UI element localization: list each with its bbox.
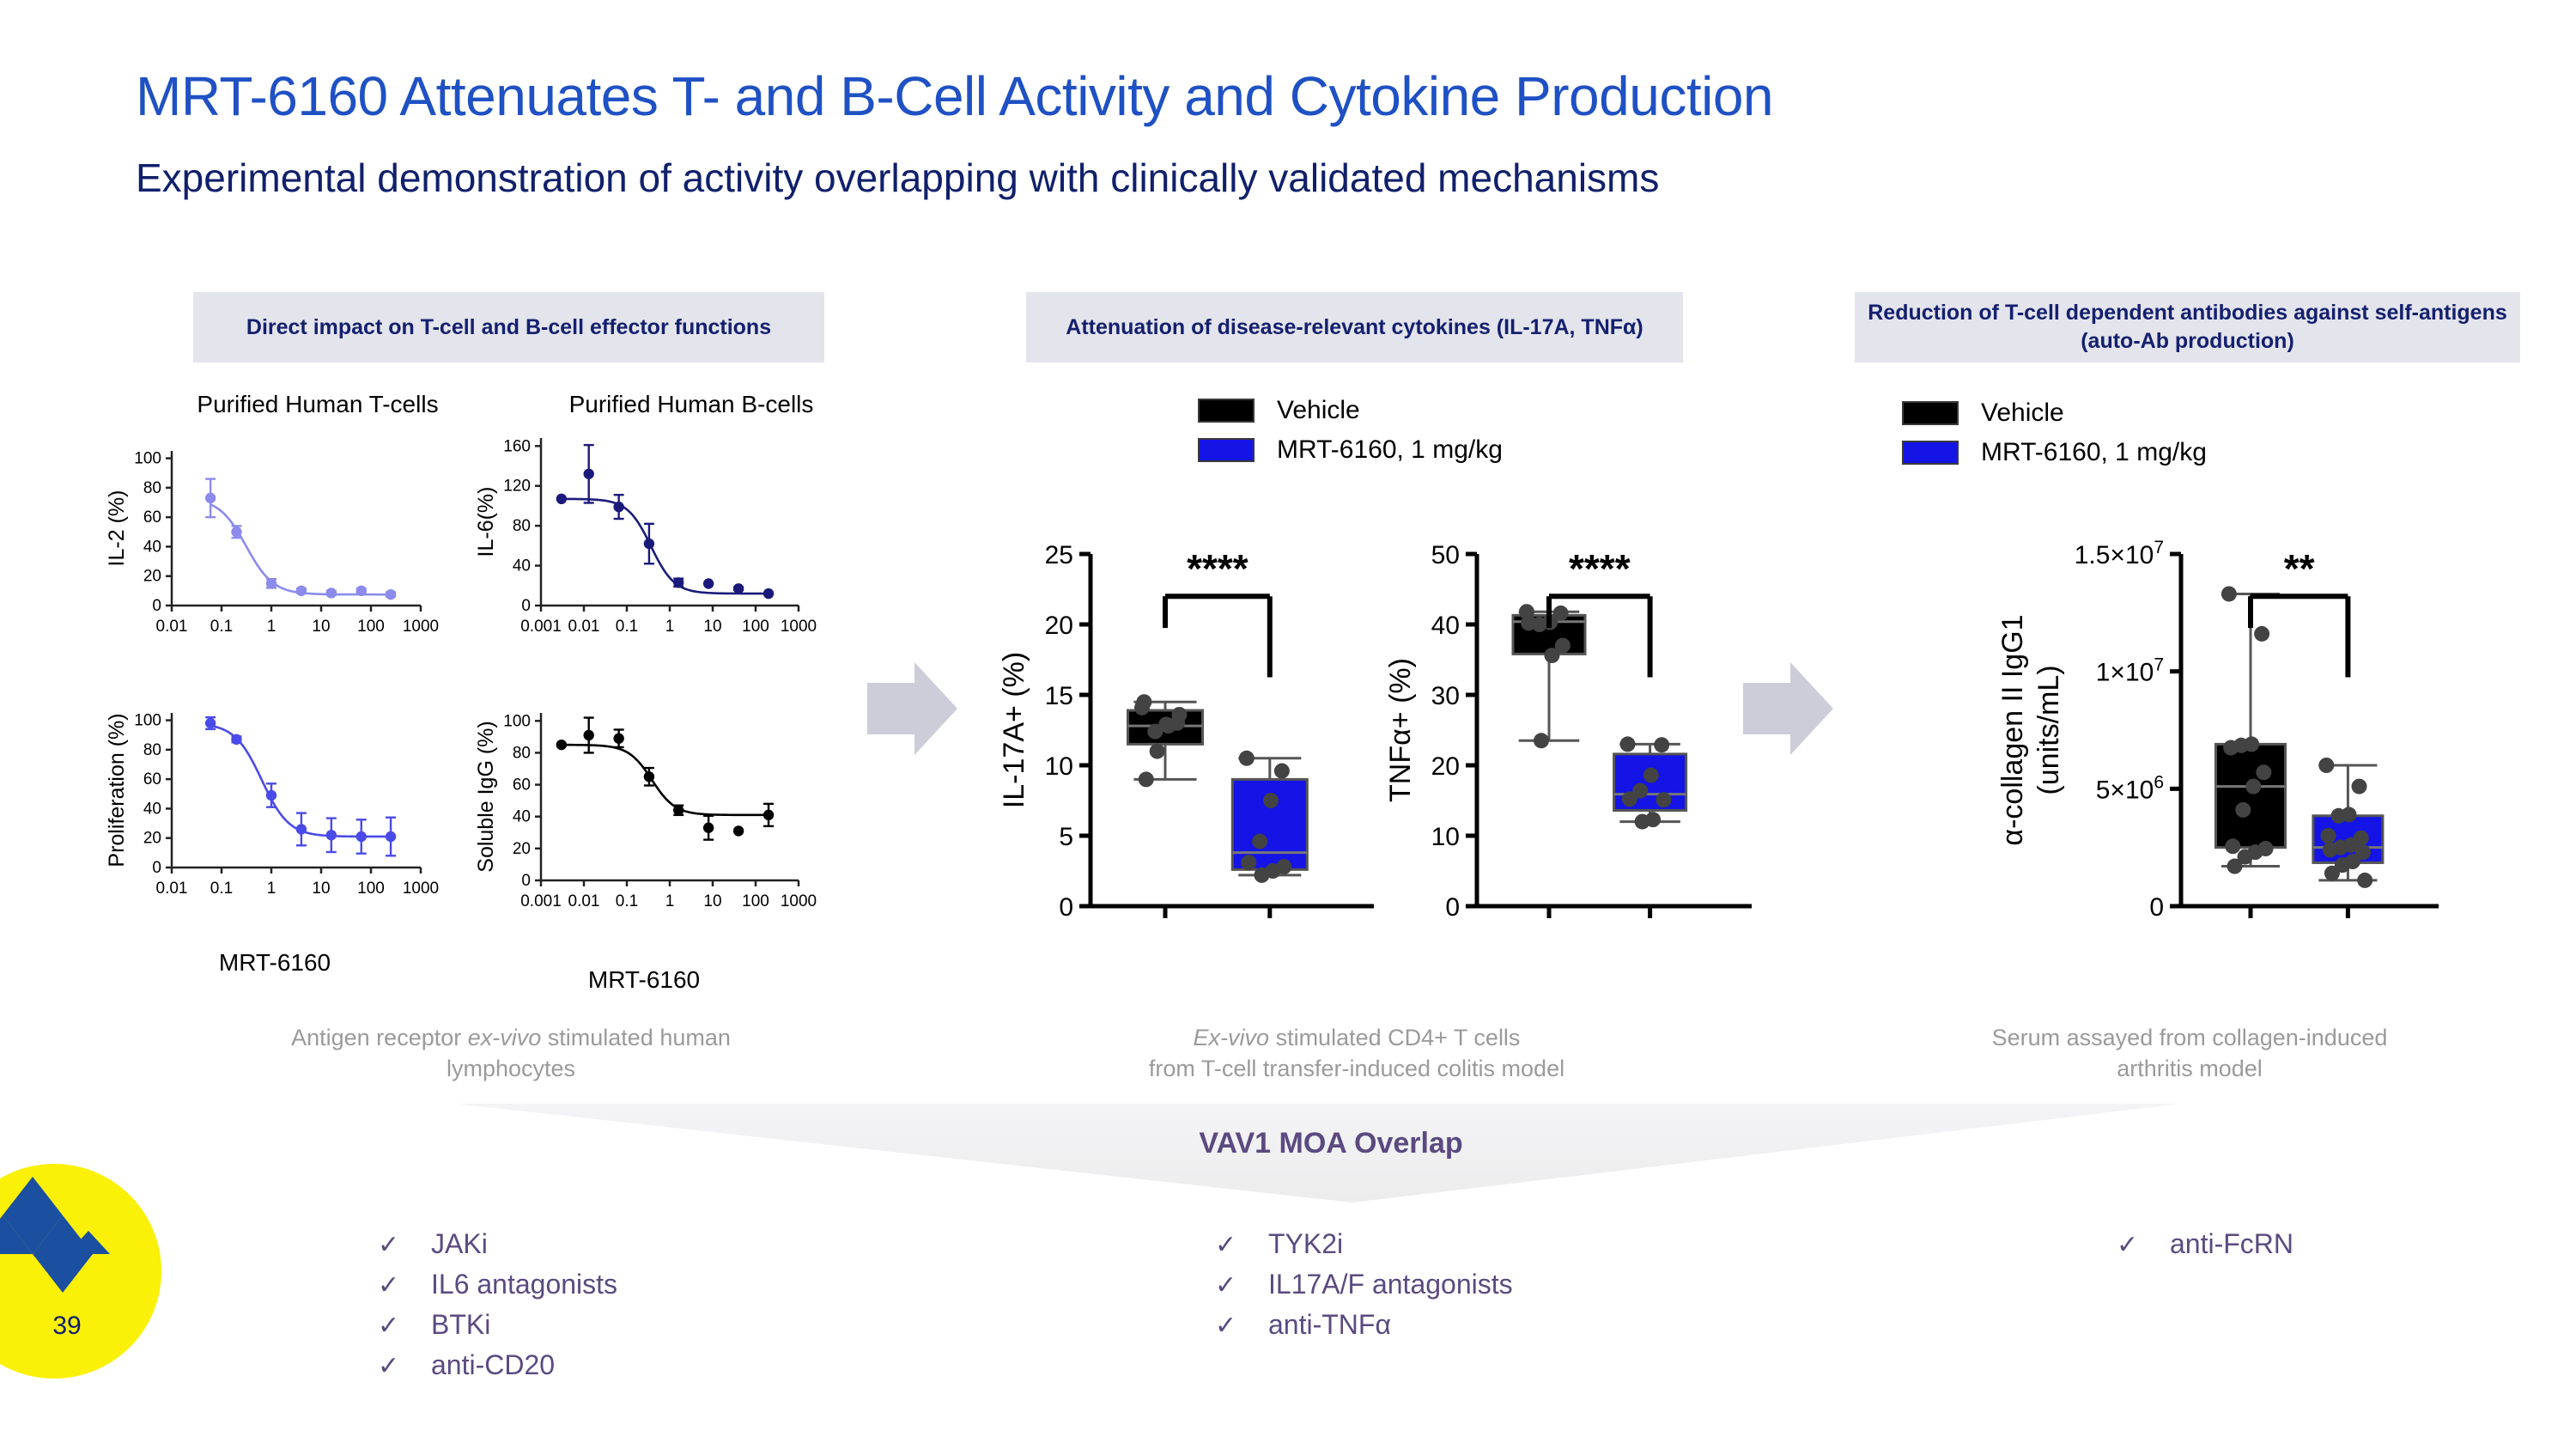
svg-text:30: 30 xyxy=(1431,682,1460,710)
legend-item-vehicle: Vehicle xyxy=(1198,391,1503,430)
check-icon: ✓ xyxy=(1215,1270,1268,1300)
check-icon: ✓ xyxy=(378,1270,431,1300)
checklist-item: ✓anti-FcRN xyxy=(2117,1228,2293,1269)
checklist-item-label: anti-FcRN xyxy=(2170,1228,2293,1260)
panel-header-middle: Attenuation of disease-relevant cytokine… xyxy=(1026,292,1683,362)
svg-text:0.1: 0.1 xyxy=(616,618,638,636)
checklist-item-label: TYK2i xyxy=(1268,1228,1343,1260)
svg-text:0: 0 xyxy=(521,597,531,615)
svg-text:20: 20 xyxy=(1431,752,1460,781)
check-icon: ✓ xyxy=(378,1311,431,1341)
svg-text:1: 1 xyxy=(665,618,675,636)
legend-label-vehicle-right: Vehicle xyxy=(1981,399,2064,428)
company-logo-badge xyxy=(0,1164,161,1379)
svg-text:1: 1 xyxy=(267,618,276,636)
legend-label-treatment: MRT-6160, 1 mg/kg xyxy=(1277,435,1503,465)
svg-text:15: 15 xyxy=(1045,682,1073,710)
caption-left-post: stimulated human xyxy=(541,1025,731,1050)
svg-text:0: 0 xyxy=(1445,893,1460,922)
svg-text:20: 20 xyxy=(143,830,161,848)
svg-text:100: 100 xyxy=(134,712,161,730)
moa-banner-label: VAV1 MOA Overlap xyxy=(1108,1127,1554,1160)
flow-arrow-2-icon xyxy=(1743,657,1838,760)
svg-text:0.1: 0.1 xyxy=(210,618,233,636)
checklist-item-label: IL6 antagonists xyxy=(431,1269,617,1300)
slide-canvas: MRT-6160 Attenuates T- and B-Cell Activi… xyxy=(0,0,2576,1449)
svg-text:0.001: 0.001 xyxy=(520,892,562,910)
svg-text:IL-17A+ (%): IL-17A+ (%) xyxy=(998,652,1030,808)
caption-right-line2: arthritis model xyxy=(2117,1056,2263,1081)
legend-middle: Vehicle MRT-6160, 1 mg/kg xyxy=(1198,391,1503,470)
caption-mid-post: stimulated CD4+ T cells xyxy=(1269,1025,1520,1050)
svg-text:80: 80 xyxy=(143,479,161,497)
svg-text:5: 5 xyxy=(1059,823,1073,851)
svg-text:0.1: 0.1 xyxy=(210,880,233,898)
checklist-item: ✓IL17A/F antagonists xyxy=(1215,1269,1513,1309)
svg-text:20: 20 xyxy=(143,568,161,586)
svg-text:100: 100 xyxy=(742,892,769,910)
check-icon: ✓ xyxy=(1215,1311,1268,1341)
svg-text:80: 80 xyxy=(143,741,161,759)
svg-text:80: 80 xyxy=(513,517,531,535)
svg-text:25: 25 xyxy=(1045,541,1073,569)
panel-header-right: Reduction of T-cell dependent antibodies… xyxy=(1855,292,2520,362)
logo-mark-icon xyxy=(0,1164,161,1379)
svg-text:****: **** xyxy=(1569,546,1631,591)
svg-text:10: 10 xyxy=(1045,752,1073,781)
check-icon: ✓ xyxy=(378,1351,431,1381)
caption-left: Antigen receptor ex-vivo stimulated huma… xyxy=(185,1022,837,1085)
caption-mid-line2: from T-cell transfer-induced colitis mod… xyxy=(1149,1056,1564,1081)
legend-item-treatment-right: MRT-6160, 1 mg/kg xyxy=(1902,433,2207,472)
svg-text:100: 100 xyxy=(357,618,385,636)
caption-right-line1: Serum assayed from collagen-induced xyxy=(1992,1025,2388,1050)
checklist-item-label: anti-TNFα xyxy=(1268,1309,1391,1341)
svg-text:160: 160 xyxy=(503,437,531,455)
svg-text:40: 40 xyxy=(143,538,161,556)
caption-right: Serum assayed from collagen-induced arth… xyxy=(1863,1022,2516,1085)
svg-text:TNFα+ (%): TNFα+ (%) xyxy=(1384,658,1417,802)
svg-text:50: 50 xyxy=(1431,541,1460,569)
svg-text:α-collagen II IgG1: α-collagen II IgG1 xyxy=(1996,614,2029,845)
svg-text:IL-6(%): IL-6(%) xyxy=(474,487,498,557)
svg-text:0.1: 0.1 xyxy=(616,892,638,910)
check-icon: ✓ xyxy=(2117,1230,2170,1260)
svg-text:1.5×107: 1.5×107 xyxy=(2075,538,2164,569)
svg-text:1: 1 xyxy=(665,892,675,910)
legend-label-treatment-right: MRT-6160, 1 mg/kg xyxy=(1981,438,2207,467)
svg-text:10: 10 xyxy=(312,618,330,636)
checklist-item: ✓BTKi xyxy=(378,1309,617,1349)
svg-text:(units/mL): (units/mL) xyxy=(2032,665,2065,795)
svg-text:20: 20 xyxy=(513,840,531,858)
svg-text:10: 10 xyxy=(1431,823,1460,851)
checklist-item-label: JAKi xyxy=(431,1228,488,1260)
flow-arrow-1-icon xyxy=(867,657,962,760)
panel-header-left: Direct impact on T-cell and B-cell effec… xyxy=(193,292,824,362)
svg-text:0.01: 0.01 xyxy=(568,892,600,910)
checklist-item-label: IL17A/F antagonists xyxy=(1268,1269,1513,1300)
svg-text:100: 100 xyxy=(357,880,385,898)
svg-text:****: **** xyxy=(1187,546,1249,591)
legend-item-vehicle-right: Vehicle xyxy=(1902,393,2207,433)
caption-left-pre: Antigen receptor xyxy=(291,1025,468,1050)
legend-right: Vehicle MRT-6160, 1 mg/kg xyxy=(1902,393,2207,472)
svg-text:40: 40 xyxy=(1431,612,1460,640)
svg-text:100: 100 xyxy=(742,618,769,636)
check-icon: ✓ xyxy=(378,1230,431,1260)
page-subtitle: Experimental demonstration of activity o… xyxy=(136,155,1659,201)
svg-text:0.01: 0.01 xyxy=(156,880,188,898)
svg-text:0.01: 0.01 xyxy=(156,618,188,636)
svg-text:IL-2 (%): IL-2 (%) xyxy=(105,490,129,567)
svg-text:10: 10 xyxy=(312,880,330,898)
svg-text:120: 120 xyxy=(503,478,531,496)
checklist-column-1: ✓JAKi✓IL6 antagonists✓BTKi✓anti-CD20 xyxy=(378,1228,617,1390)
caption-left-line2: lymphocytes xyxy=(447,1056,575,1081)
checklist-item: ✓anti-TNFα xyxy=(1215,1309,1513,1349)
boxplot-collagen-igg1: 05×1061×1071.5×107**α-collagen II IgG1(u… xyxy=(1923,515,2439,962)
svg-text:Proliferation (%): Proliferation (%) xyxy=(105,713,129,867)
svg-text:0: 0 xyxy=(152,859,161,877)
svg-text:Soluble IgG (%): Soluble IgG (%) xyxy=(474,721,498,872)
x-axis-label-tcell: MRT-6160 xyxy=(163,949,386,977)
svg-text:100: 100 xyxy=(503,712,531,730)
legend-swatch-vehicle xyxy=(1198,399,1255,423)
svg-text:60: 60 xyxy=(143,508,161,527)
svg-text:80: 80 xyxy=(513,744,531,762)
svg-text:40: 40 xyxy=(513,808,531,826)
checklist-item: ✓anti-CD20 xyxy=(378,1349,617,1390)
page-title: MRT-6160 Attenuates T- and B-Cell Activi… xyxy=(136,64,1773,128)
svg-text:1000: 1000 xyxy=(781,618,817,636)
svg-text:0: 0 xyxy=(2149,893,2164,922)
svg-text:40: 40 xyxy=(513,557,531,575)
checklist-item: ✓JAKi xyxy=(378,1228,617,1269)
x-axis-label-bcell: MRT-6160 xyxy=(515,966,773,994)
svg-text:0.01: 0.01 xyxy=(568,618,600,636)
checklist-column-2: ✓TYK2i✓IL17A/F antagonists✓anti-TNFα xyxy=(1215,1228,1513,1349)
caption-mid-em: Ex-vivo xyxy=(1194,1025,1270,1050)
svg-text:1000: 1000 xyxy=(403,618,439,636)
slide-number: 39 xyxy=(41,1312,93,1341)
svg-text:100: 100 xyxy=(134,450,161,468)
boxplot-tnfa: 01020304050****TNFα+ (%) xyxy=(1374,515,1752,962)
dose-response-chart-group: 0204060801000.010.11101001000IL-2 (%)020… xyxy=(77,429,945,1014)
caption-middle: Ex-vivo stimulated CD4+ T cells from T-c… xyxy=(1030,1022,1683,1085)
svg-text:1×107: 1×107 xyxy=(2096,655,2164,687)
svg-text:0: 0 xyxy=(1059,893,1073,922)
legend-swatch-treatment-right xyxy=(1902,441,1959,465)
caption-left-em: ex-vivo xyxy=(468,1025,542,1050)
legend-label-vehicle: Vehicle xyxy=(1277,396,1360,425)
svg-text:1: 1 xyxy=(267,880,276,898)
chart-title-b-cells: Purified Human B-cells xyxy=(524,391,859,418)
checklist-column-3: ✓anti-FcRN xyxy=(2117,1228,2293,1269)
svg-text:0.001: 0.001 xyxy=(520,618,562,636)
svg-text:60: 60 xyxy=(143,770,161,788)
legend-item-treatment: MRT-6160, 1 mg/kg xyxy=(1198,430,1503,470)
chart-title-t-cells: Purified Human T-cells xyxy=(155,391,481,418)
svg-text:1000: 1000 xyxy=(403,880,439,898)
check-icon: ✓ xyxy=(1215,1230,1268,1260)
boxplot-il17a: 0510152025****IL-17A+ (%) xyxy=(996,515,1374,962)
svg-text:**: ** xyxy=(2284,546,2315,591)
svg-text:60: 60 xyxy=(513,776,531,795)
checklist-item-label: BTKi xyxy=(431,1309,490,1341)
svg-text:1000: 1000 xyxy=(781,892,817,910)
svg-text:5×106: 5×106 xyxy=(2096,772,2164,804)
checklist-item: ✓IL6 antagonists xyxy=(378,1269,617,1309)
svg-text:10: 10 xyxy=(703,618,721,636)
legend-swatch-vehicle-right xyxy=(1902,401,1959,425)
checklist-item: ✓TYK2i xyxy=(1215,1228,1513,1269)
svg-text:40: 40 xyxy=(143,800,161,818)
legend-swatch-treatment xyxy=(1198,438,1255,462)
svg-text:0: 0 xyxy=(521,872,531,890)
svg-text:10: 10 xyxy=(703,892,721,910)
svg-text:0: 0 xyxy=(152,597,161,615)
svg-text:20: 20 xyxy=(1045,612,1073,640)
checklist-item-label: anti-CD20 xyxy=(431,1349,555,1381)
